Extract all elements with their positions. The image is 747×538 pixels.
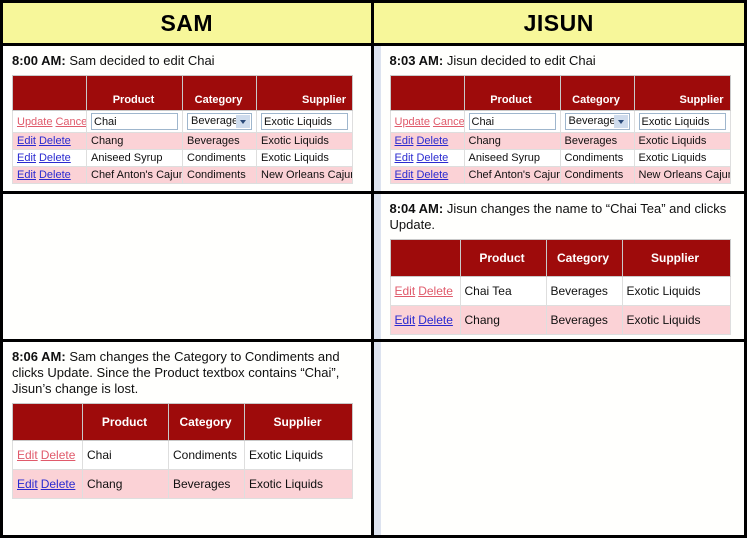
- column-header-category: Category: [169, 404, 245, 441]
- product-cell: Aniseed Syrup: [464, 150, 560, 167]
- table-row: EditDelete Chai Tea Beverages Exotic Liq…: [390, 277, 730, 306]
- supplier-cell: Exotic Liquids: [622, 277, 730, 306]
- table-row: EditDelete Chang Beverages Exotic Liquid…: [390, 133, 730, 150]
- column-header-supplier: Supplier: [622, 240, 730, 277]
- cancel-link[interactable]: Cancel: [55, 116, 86, 128]
- page-title-jisun: JISUN: [524, 10, 594, 37]
- timeline-row-2: 8:04 AM: Jisun changes the name to “Chai…: [3, 194, 744, 342]
- column-header-supplier: Supplier: [257, 76, 353, 111]
- column-header-commands: [390, 240, 460, 277]
- cell-sam-empty: [3, 194, 374, 339]
- update-link[interactable]: Update: [17, 116, 52, 128]
- supplier-cell-edit: [257, 111, 353, 133]
- supplier-cell: Exotic Liquids: [245, 441, 353, 470]
- column-header-supplier: Supplier: [634, 76, 730, 111]
- cell-sam-0806: 8:06 AM: Sam changes the Category to Con…: [3, 342, 374, 535]
- row-commands: EditDelete: [390, 167, 464, 184]
- edit-link[interactable]: Edit: [395, 152, 414, 164]
- timeline-grid: 8:00 AM: Sam decided to edit Chai Produc…: [3, 46, 744, 535]
- timestamp: 8:03 AM:: [390, 53, 444, 68]
- delete-link[interactable]: Delete: [41, 477, 76, 491]
- row-commands: EditDelete: [390, 133, 464, 150]
- comparison-frame: SAM JISUN 8:00 AM: Sam decided to edit C…: [0, 0, 747, 538]
- delete-link[interactable]: Delete: [416, 169, 448, 181]
- column-header-category: Category: [560, 76, 634, 111]
- column-headers: SAM JISUN: [3, 3, 744, 46]
- header-cell-sam: SAM: [3, 3, 374, 43]
- table-row: EditDelete Chef Anton's Cajun Condiments…: [13, 167, 353, 184]
- header-cell-jisun: JISUN: [374, 3, 745, 43]
- table-header-row: Product Category Supplier: [390, 240, 730, 277]
- supplier-cell: Exotic Liquids: [245, 470, 353, 499]
- category-select[interactable]: Beverages: [565, 113, 630, 130]
- table-row: EditDelete Chang Beverages Exotic Liquid…: [13, 133, 353, 150]
- timeline-row-1: 8:00 AM: Sam decided to edit Chai Produc…: [3, 46, 744, 194]
- table-row: EditDelete Chang Beverages Exotic Liquid…: [13, 470, 353, 499]
- update-link[interactable]: Update: [395, 116, 430, 128]
- column-header-commands: [13, 76, 87, 111]
- cell-jisun-0803: 8:03 AM: Jisun decided to edit Chai Prod…: [374, 46, 745, 191]
- caption-jisun-0804: 8:04 AM: Jisun changes the name to “Chai…: [390, 201, 736, 233]
- timestamp: 8:04 AM:: [390, 201, 444, 216]
- supplier-cell: Exotic Liquids: [257, 150, 353, 167]
- category-cell: Beverages: [169, 470, 245, 499]
- category-cell-edit: Beverages: [183, 111, 257, 133]
- row-commands: UpdateCancel: [13, 111, 87, 133]
- caption-sam-0800: 8:00 AM: Sam decided to edit Chai: [12, 53, 362, 69]
- edit-link[interactable]: Edit: [395, 135, 414, 147]
- category-cell-edit: Beverages: [560, 111, 634, 133]
- caption-jisun-0803: 8:03 AM: Jisun decided to edit Chai: [390, 53, 736, 69]
- gridview-sam-0806: Product Category Supplier EditDelete Cha…: [12, 403, 353, 499]
- column-header-product: Product: [460, 240, 546, 277]
- timestamp: 8:06 AM:: [12, 349, 66, 364]
- cell-sam-0800: 8:00 AM: Sam decided to edit Chai Produc…: [3, 46, 374, 191]
- table-row-editing: UpdateCancel Beverages: [13, 111, 353, 133]
- product-cell-edit: [87, 111, 183, 133]
- category-cell: Condiments: [183, 150, 257, 167]
- product-cell: Aniseed Syrup: [87, 150, 183, 167]
- cell-jisun-empty: [374, 342, 745, 535]
- category-cell: Condiments: [560, 167, 634, 184]
- table-row: EditDelete Aniseed Syrup Condiments Exot…: [390, 150, 730, 167]
- product-input[interactable]: [469, 113, 556, 130]
- product-cell-edit: [464, 111, 560, 133]
- supplier-cell: Exotic Liquids: [622, 306, 730, 335]
- delete-link[interactable]: Delete: [39, 169, 71, 181]
- edit-link[interactable]: Edit: [17, 152, 36, 164]
- supplier-cell: New Orleans Cajun Delights: [634, 167, 730, 184]
- timeline-row-3: 8:06 AM: Sam changes the Category to Con…: [3, 342, 744, 535]
- chevron-down-icon[interactable]: [236, 115, 250, 128]
- product-cell: Chang: [460, 306, 546, 335]
- gridview-jisun-0803: Product Category Supplier UpdateCancel B…: [390, 75, 731, 184]
- row-commands: EditDelete: [13, 470, 83, 499]
- cell-jisun-0804: 8:04 AM: Jisun changes the name to “Chai…: [374, 194, 745, 339]
- delete-link[interactable]: Delete: [41, 448, 76, 462]
- table-row-editing: UpdateCancel Beverages: [390, 111, 730, 133]
- edit-link[interactable]: Edit: [17, 169, 36, 181]
- product-cell: Chai Tea: [460, 277, 546, 306]
- row-commands: EditDelete: [390, 150, 464, 167]
- delete-link[interactable]: Delete: [416, 152, 448, 164]
- supplier-cell: Exotic Liquids: [634, 133, 730, 150]
- row-commands: UpdateCancel: [390, 111, 464, 133]
- delete-link[interactable]: Delete: [39, 135, 71, 147]
- supplier-cell: Exotic Liquids: [257, 133, 353, 150]
- table-row: EditDelete Chef Anton's Cajun Condiments…: [390, 167, 730, 184]
- supplier-cell-edit: [634, 111, 730, 133]
- table-row: EditDelete Chang Beverages Exotic Liquid…: [390, 306, 730, 335]
- cancel-link[interactable]: Cancel: [433, 116, 464, 128]
- column-header-commands: [13, 404, 83, 441]
- edit-link[interactable]: Edit: [395, 169, 414, 181]
- table-header-row: Product Category Supplier: [13, 76, 353, 111]
- product-cell: Chai: [83, 441, 169, 470]
- caption-sam-0806: 8:06 AM: Sam changes the Category to Con…: [12, 349, 362, 397]
- timestamp: 8:00 AM:: [12, 53, 66, 68]
- table-row: EditDelete Aniseed Syrup Condiments Exot…: [13, 150, 353, 167]
- table-row: EditDelete Chai Condiments Exotic Liquid…: [13, 441, 353, 470]
- supplier-input[interactable]: [639, 113, 726, 130]
- table-header-row: Product Category Supplier: [390, 76, 730, 111]
- chevron-down-icon[interactable]: [614, 115, 628, 128]
- edit-link[interactable]: Edit: [395, 313, 416, 327]
- category-cell: Beverages: [560, 133, 634, 150]
- category-cell: Condiments: [560, 150, 634, 167]
- supplier-cell: New Orleans Cajun Delights: [257, 167, 353, 184]
- product-cell: Chang: [83, 470, 169, 499]
- delete-link[interactable]: Delete: [416, 135, 448, 147]
- product-cell: Chef Anton's Cajun: [464, 167, 560, 184]
- gridview-sam-0800: Product Category Supplier UpdateCancel B…: [12, 75, 353, 184]
- column-header-category: Category: [546, 240, 622, 277]
- column-header-product: Product: [83, 404, 169, 441]
- gridview-jisun-0804: Product Category Supplier EditDelete Cha…: [390, 239, 731, 335]
- row-commands: EditDelete: [13, 441, 83, 470]
- category-cell: Condiments: [183, 167, 257, 184]
- edit-link[interactable]: Edit: [17, 477, 38, 491]
- delete-link[interactable]: Delete: [418, 284, 453, 298]
- product-input[interactable]: [91, 113, 178, 130]
- category-cell: Beverages: [546, 277, 622, 306]
- product-cell: Chang: [464, 133, 560, 150]
- category-cell: Beverages: [546, 306, 622, 335]
- caption-text: Jisun decided to edit Chai: [443, 53, 595, 68]
- caption-text: Sam decided to edit Chai: [66, 53, 215, 68]
- category-cell: Condiments: [169, 441, 245, 470]
- row-commands: EditDelete: [13, 133, 87, 150]
- row-commands: EditDelete: [13, 150, 87, 167]
- edit-link[interactable]: Edit: [395, 284, 416, 298]
- column-header-supplier: Supplier: [245, 404, 353, 441]
- column-header-commands: [390, 76, 464, 111]
- edit-link[interactable]: Edit: [17, 448, 38, 462]
- category-select[interactable]: Beverages: [187, 113, 252, 130]
- column-header-product: Product: [87, 76, 183, 111]
- delete-link[interactable]: Delete: [39, 152, 71, 164]
- row-commands: EditDelete: [13, 167, 87, 184]
- supplier-cell: Exotic Liquids: [634, 150, 730, 167]
- column-header-category: Category: [183, 76, 257, 111]
- delete-link[interactable]: Delete: [418, 313, 453, 327]
- edit-link[interactable]: Edit: [17, 135, 36, 147]
- row-commands: EditDelete: [390, 306, 460, 335]
- supplier-input[interactable]: [261, 113, 348, 130]
- category-cell: Beverages: [183, 133, 257, 150]
- column-header-product: Product: [464, 76, 560, 111]
- table-header-row: Product Category Supplier: [13, 404, 353, 441]
- row-commands: EditDelete: [390, 277, 460, 306]
- product-cell: Chang: [87, 133, 183, 150]
- product-cell: Chef Anton's Cajun: [87, 167, 183, 184]
- page-title-sam: SAM: [160, 10, 213, 37]
